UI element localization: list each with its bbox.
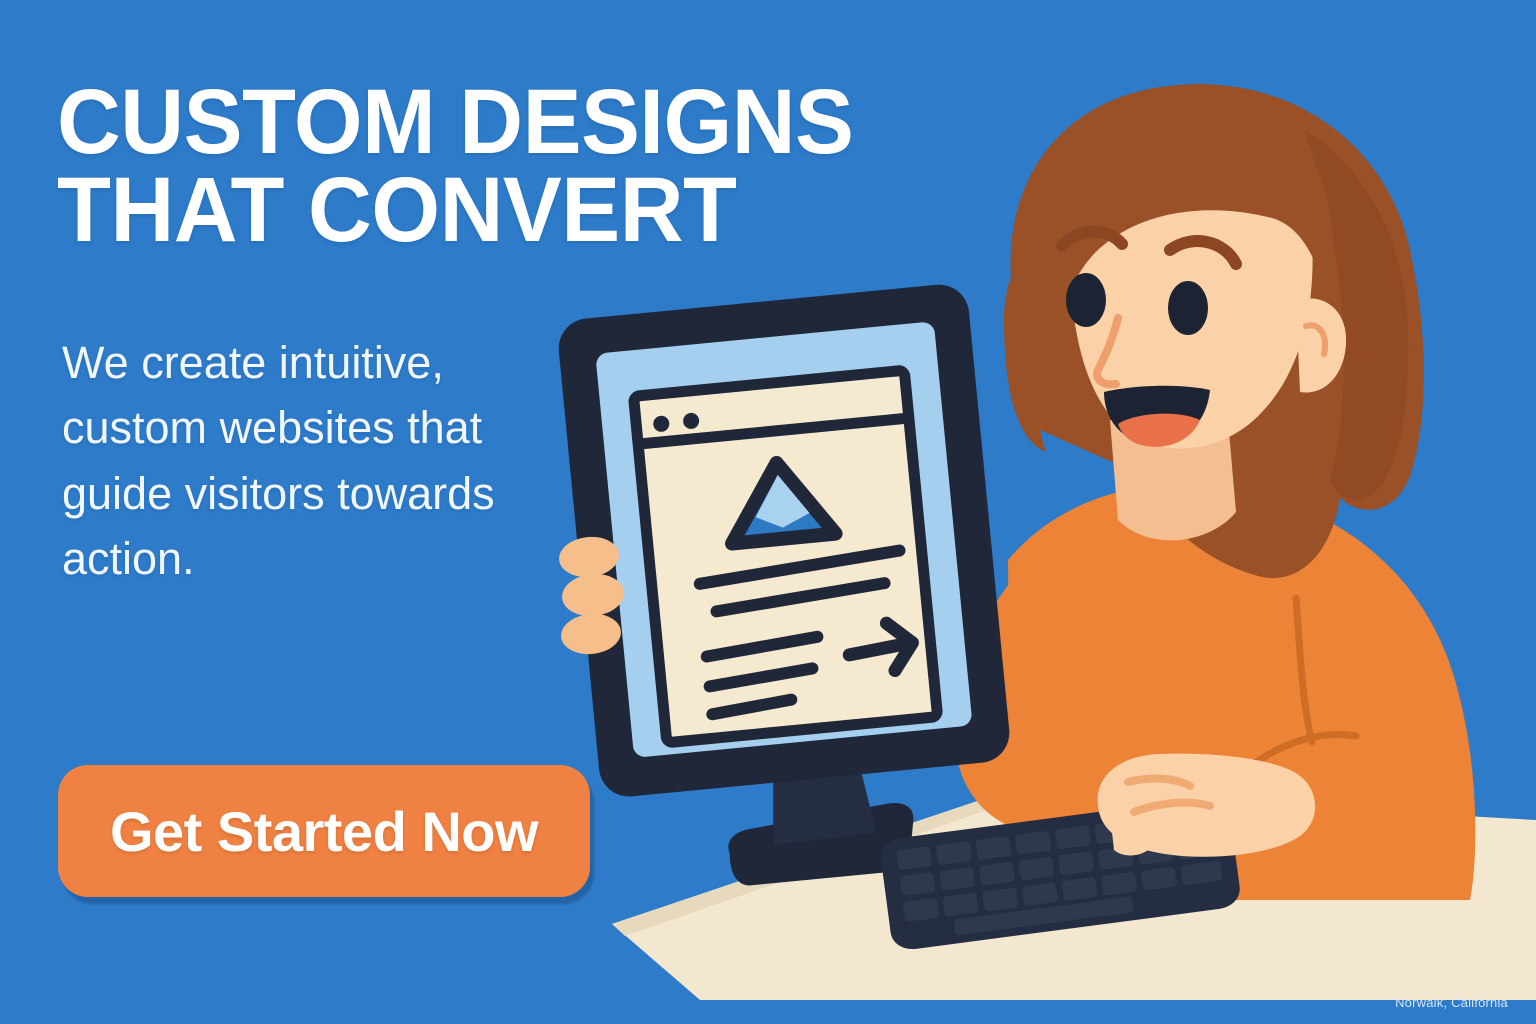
location-credit: Norwalk, California <box>1395 995 1508 1010</box>
promo-banner: CUSTOM DESIGNS THAT CONVERT We create in… <box>0 0 1536 1024</box>
eye-left <box>1066 273 1106 327</box>
right-hand <box>1098 754 1316 857</box>
page-title: CUSTOM DESIGNS THAT CONVERT <box>57 78 921 255</box>
left-hand-fingers <box>557 534 626 657</box>
headline-line-1: CUSTOM DESIGNS <box>57 71 853 173</box>
hero-subcopy: We create intuitive, custom websites tha… <box>62 330 532 591</box>
get-started-button[interactable]: Get Started Now <box>58 765 590 897</box>
eye-right <box>1168 281 1208 335</box>
headline-line-2: THAT CONVERT <box>57 166 921 254</box>
